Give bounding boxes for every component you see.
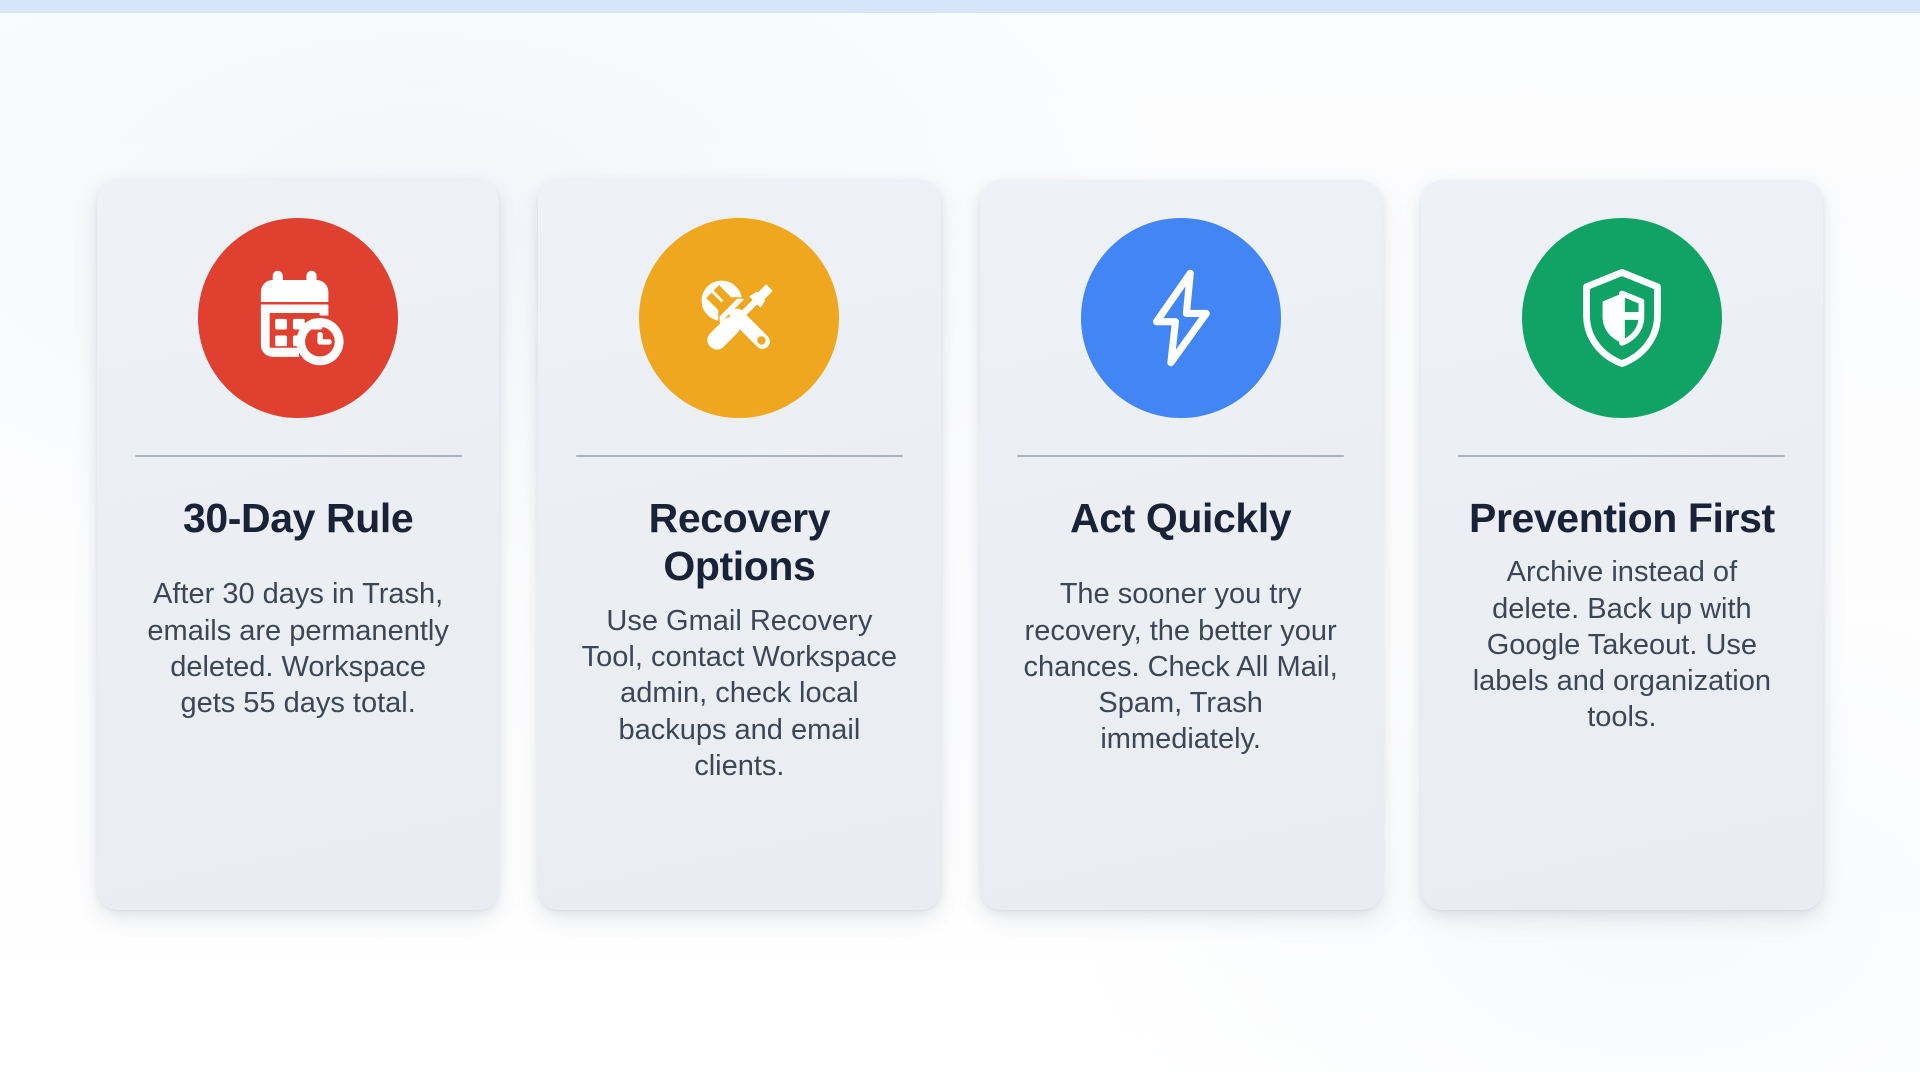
card-body-text: The sooner you try recovery, the better … — [1022, 576, 1340, 757]
lightning-bolt-icon — [1127, 264, 1235, 372]
icon-badge — [198, 218, 398, 418]
icon-badge — [1522, 218, 1722, 418]
icon-badge — [1081, 218, 1281, 418]
card-title: Recovery Options — [569, 494, 909, 591]
card-divider — [1458, 455, 1785, 457]
icon-badge — [639, 218, 839, 418]
card-divider — [1017, 455, 1344, 457]
card-row: 30-Day Rule After 30 days in Trash, emai… — [97, 180, 1823, 910]
card-divider — [135, 455, 462, 457]
tools-icon — [685, 264, 793, 372]
info-card-recovery-options[interactable]: Recovery Options Use Gmail Recovery Tool… — [538, 180, 940, 910]
card-divider — [576, 455, 903, 457]
info-card-30-day-rule[interactable]: 30-Day Rule After 30 days in Trash, emai… — [97, 180, 499, 910]
shield-icon — [1568, 264, 1676, 372]
card-title: Prevention First — [1452, 494, 1792, 542]
info-card-act-quickly[interactable]: Act Quickly The sooner you try recovery,… — [980, 180, 1382, 910]
card-title: Act Quickly — [1011, 494, 1351, 542]
card-title: 30-Day Rule — [128, 494, 468, 542]
info-card-prevention-first[interactable]: Prevention First Archive instead of dele… — [1421, 180, 1823, 910]
infographic-canvas: 30-Day Rule After 30 days in Trash, emai… — [0, 0, 1920, 1072]
card-body-text: Use Gmail Recovery Tool, contact Workspa… — [580, 603, 898, 784]
card-body-text: Archive instead of delete. Back up with … — [1463, 554, 1781, 735]
card-body-text: After 30 days in Trash, emails are perma… — [139, 576, 457, 721]
calendar-clock-icon — [244, 264, 352, 372]
top-accent-band — [0, 0, 1920, 13]
